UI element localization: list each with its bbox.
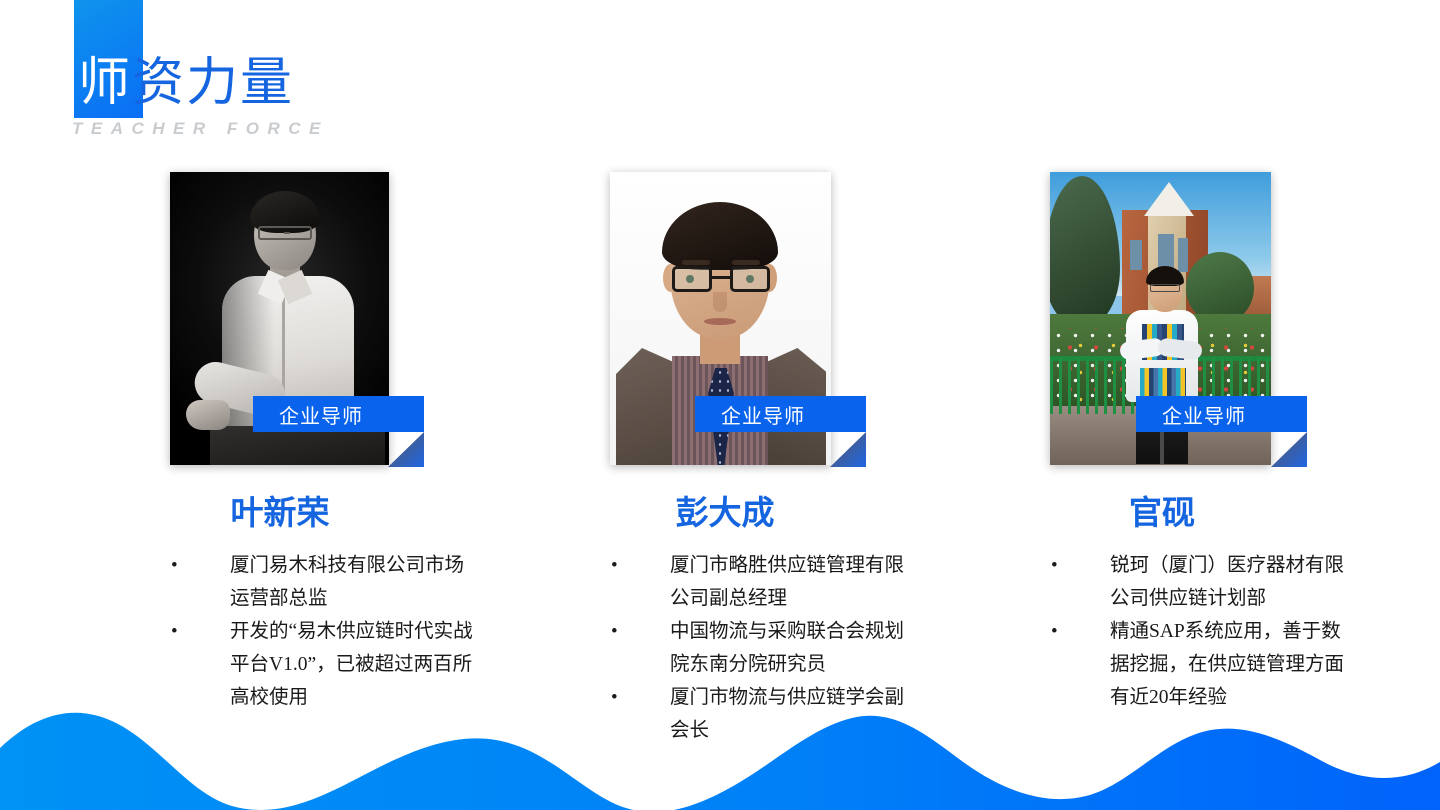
mentor-badge: 企业导师 — [253, 396, 424, 432]
photo-hand — [186, 400, 230, 430]
list-item-text: 厦门市略胜供应链管理有限公司副总经理 — [670, 555, 904, 609]
footer-wave-decoration — [0, 690, 1440, 810]
mentor-badge-fold — [830, 432, 866, 467]
photo-building-spire — [1144, 182, 1194, 216]
list-item: • 厦门易木科技有限公司市场运营部总监 — [168, 549, 478, 615]
glasses-lens-left — [672, 266, 712, 292]
photo-brow-right — [732, 260, 760, 265]
photo-mouth — [704, 318, 736, 325]
teacher-name: 官砚 — [942, 494, 1382, 534]
photo-window — [1130, 240, 1142, 270]
list-item: • 锐珂（厦门）医疗器材有限公司供应链计划部 — [1048, 549, 1358, 615]
mentor-badge-label: 企业导师 — [1136, 396, 1307, 432]
mentor-badge-label: 企业导师 — [695, 396, 866, 432]
teacher-name: 叶新荣 — [60, 494, 500, 534]
teacher-name: 彭大成 — [505, 494, 945, 534]
glasses-bridge — [712, 276, 730, 279]
bullet-icon: • — [611, 615, 618, 648]
photo-glasses — [258, 226, 312, 240]
list-item: • 厦门市略胜供应链管理有限公司副总经理 — [608, 549, 918, 615]
page-subtitle: TEACHER FORCE — [72, 119, 329, 139]
page-title-rest: 资力量 — [132, 55, 294, 112]
mentor-badge: 企业导师 — [1136, 396, 1307, 432]
slide-root: 师资力量 TEACHER FORCE — [0, 0, 1440, 810]
photo-window — [1178, 238, 1188, 272]
list-item-text: 中国物流与采购联合会规划院东南分院研究员 — [670, 621, 904, 675]
bullet-icon: • — [1051, 615, 1058, 648]
page-title-first-char: 师 — [78, 55, 132, 112]
photo-brow-left — [682, 260, 710, 265]
glasses-lens-right — [730, 266, 770, 292]
bullet-icon: • — [171, 615, 178, 648]
bullet-icon: • — [611, 549, 618, 582]
bullet-icon: • — [171, 549, 178, 582]
list-item-text: 锐珂（厦门）医疗器材有限公司供应链计划部 — [1110, 555, 1344, 609]
photo-glasses — [672, 266, 770, 292]
mentor-badge-label: 企业导师 — [253, 396, 424, 432]
photo-glasses — [1150, 284, 1180, 292]
list-item: • 中国物流与采购联合会规划院东南分院研究员 — [608, 615, 918, 681]
mentor-badge-fold — [1271, 432, 1307, 467]
list-item-text: 厦门易木科技有限公司市场运营部总监 — [230, 555, 464, 609]
photo-nose — [713, 292, 727, 312]
slide-header: 师资力量 TEACHER FORCE — [0, 0, 700, 160]
mentor-badge: 企业导师 — [695, 396, 866, 432]
bullet-icon: • — [1051, 549, 1058, 582]
page-title: 师资力量 — [78, 58, 294, 110]
mentor-badge-fold — [388, 432, 424, 467]
photo-tshirt-graphic — [1140, 368, 1186, 398]
